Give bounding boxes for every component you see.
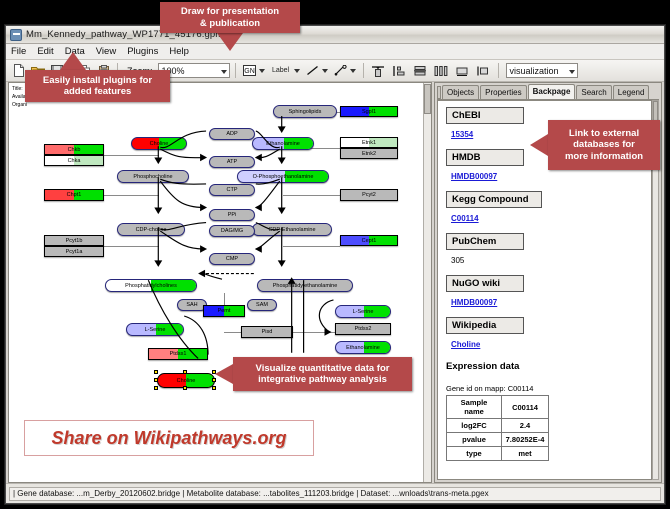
node-label: Pcyt1a	[66, 249, 83, 255]
table-cell-value: 7.80252E-4	[502, 433, 549, 447]
node-label: L-Serine	[353, 309, 374, 315]
gene-node[interactable]: Etnk2	[340, 148, 398, 159]
connector-pcyt1	[104, 246, 159, 247]
metabolite-node[interactable]: L-Serine	[335, 305, 391, 318]
metabolite-node[interactable]: SAM	[247, 299, 277, 311]
align-left-icon[interactable]	[390, 62, 409, 79]
connector-pcyt2	[283, 195, 340, 196]
title-bar: Mm_Kennedy_pathway_WP1771_45176.gpml	[6, 26, 664, 44]
gene-id-line: Gene id on mapp: C00114	[446, 384, 643, 393]
side-panel-tabstrip: Objects Properties Backpage Search Legen…	[437, 85, 659, 100]
table-cell-key: type	[447, 447, 502, 461]
gene-node[interactable]: Pcyt1a	[44, 246, 104, 257]
selection-handle-sw[interactable]	[154, 386, 158, 390]
metabolite-node[interactable]: DAG/MG	[209, 225, 255, 237]
node-label: Ptdss1	[170, 351, 187, 357]
table-row: pvalue 7.80252E-4	[447, 433, 549, 447]
order-icon[interactable]	[474, 62, 493, 79]
metabolite-node[interactable]: CTP	[209, 184, 255, 196]
pathvisio-icon	[10, 29, 22, 41]
datanode-split-button[interactable]: GN	[241, 62, 267, 79]
db-link-hmdb[interactable]: HMDB00097	[451, 172, 497, 181]
metabolite-node[interactable]: Choline	[131, 137, 187, 150]
node-label: Ethanolamine	[346, 345, 380, 351]
metabolite-node[interactable]: ADP	[209, 128, 255, 140]
metabolite-node[interactable]: CMP	[209, 253, 255, 265]
metabolite-node[interactable]: CDP-Ethanolamine	[252, 223, 332, 236]
selection-handle-w[interactable]	[154, 378, 158, 382]
node-label: Phosphatidylcholines	[125, 283, 177, 289]
db-value-pubchem: 305	[451, 256, 464, 265]
menu-item-view[interactable]: View	[95, 46, 117, 57]
callout-links-text: Link to external databases for more info…	[565, 128, 643, 162]
gene-node[interactable]: Chpt1	[44, 189, 104, 201]
table-row: log2FC 2.4	[447, 419, 549, 433]
node-label: Cept1	[362, 238, 377, 244]
db-header-nugo: NuGO wiki	[446, 275, 524, 292]
node-label: Etnk2	[362, 151, 376, 157]
connector-chpt1	[104, 195, 159, 196]
selection-handle-n[interactable]	[183, 370, 187, 374]
receptor-split-button[interactable]	[332, 62, 358, 79]
node-label: DAG/MG	[221, 228, 243, 234]
toolbar-separator	[235, 63, 236, 78]
metabolite-node[interactable]: Phosphatidylcholines	[105, 279, 197, 292]
metabolite-node[interactable]: Sphingolipids	[273, 105, 337, 118]
expression-data-title: Expression data	[446, 361, 643, 372]
connector-cept1	[283, 246, 340, 247]
node-label: Etnk1	[362, 140, 376, 146]
menu-bar: File Edit Data View Plugins Help	[6, 44, 664, 60]
callout-visualize-text: Visualize quantitative data for integrat…	[256, 363, 390, 385]
callout-visualize: Visualize quantitative data for integrat…	[233, 357, 412, 391]
status-text: | Gene database: ...m_Derby_20120602.bri…	[9, 487, 661, 501]
screenshot-root: Mm_Kennedy_pathway_WP1771_45176.gpml Fil…	[0, 0, 670, 509]
node-label: Chpt1	[67, 192, 82, 198]
gene-node[interactable]: Etnk1	[340, 137, 398, 148]
callout-links: Link to external databases for more info…	[548, 120, 660, 170]
svg-text:GN: GN	[244, 68, 255, 75]
tab-properties[interactable]: Properties	[480, 85, 526, 99]
table-cell-key: log2FC	[447, 419, 502, 433]
scrollbar-thumb[interactable]	[424, 84, 431, 114]
visualization-combo[interactable]: visualization	[506, 63, 578, 78]
table-cell-key: pvalue	[447, 433, 502, 447]
metabolite-node[interactable]: ATP	[209, 156, 255, 168]
chevron-down-icon[interactable]	[293, 62, 302, 79]
datanode-icon[interactable]: GN	[241, 62, 258, 79]
node-label: Phosphocholine	[133, 174, 172, 180]
node-label: O-Phosphoethanolamine	[253, 174, 314, 180]
gene-node[interactable]: Chkb	[44, 144, 104, 155]
table-cell-value: C00114	[502, 396, 549, 419]
callout-share: Share on Wikipathways.org	[24, 420, 314, 456]
line-split-button[interactable]	[304, 62, 330, 79]
node-label: Phosphatidylethanolamine	[273, 283, 338, 289]
metabolite-node[interactable]: Phosphocholine	[117, 170, 189, 183]
node-label: Pcyt1b	[66, 238, 83, 244]
menu-item-file[interactable]: File	[10, 46, 27, 57]
node-label: PPi	[228, 212, 237, 218]
connector-ptdss2	[293, 332, 335, 333]
selection-handle-s[interactable]	[183, 386, 187, 390]
tab-objects[interactable]: Objects	[442, 85, 479, 99]
db-header-wikipedia: Wikipedia	[446, 317, 524, 334]
db-link-kegg[interactable]: C00114	[451, 214, 479, 223]
db-header-chebi: ChEBI	[446, 107, 524, 124]
node-label: Choline	[177, 378, 196, 384]
db-link-chebi[interactable]: 15354	[451, 130, 473, 139]
canvas-meta-title: Title:	[12, 86, 23, 92]
chevron-down-icon	[569, 70, 575, 74]
db-link-nugo[interactable]: HMDB00097	[451, 298, 497, 307]
node-label: Ptdss2	[355, 326, 372, 332]
node-label: Pcyt2	[362, 192, 376, 198]
node-label: CDP-choline	[136, 227, 167, 233]
table-cell-key: Sample name	[447, 396, 502, 419]
menu-item-edit[interactable]: Edit	[36, 46, 54, 57]
chevron-down-icon	[221, 70, 227, 74]
node-label: SAH	[186, 302, 197, 308]
callout-draw-arrow	[217, 33, 243, 51]
metabolite-node[interactable]: L-Serine	[126, 323, 184, 336]
metabolite-node[interactable]: PPi	[209, 209, 255, 221]
callout-visualize-arrow	[215, 364, 233, 384]
label-tool[interactable]: Label	[269, 62, 293, 79]
node-label: ATP	[227, 159, 237, 165]
node-label: ADP	[226, 131, 237, 137]
chevron-down-icon[interactable]	[321, 62, 330, 79]
canvas-meta-organism: Organi	[12, 102, 27, 108]
toolbar-separator	[363, 63, 364, 78]
node-label: CMP	[226, 256, 238, 262]
tab-legend[interactable]: Legend	[613, 85, 650, 99]
stack-vertical-icon[interactable]	[411, 62, 430, 79]
label-tool-text: Label	[272, 67, 289, 74]
callout-draw: Draw for presentation & publication	[160, 2, 300, 33]
group-icon[interactable]	[453, 62, 472, 79]
node-label: Sphingolipids	[289, 109, 322, 115]
metabolite-node[interactable]: O-Phosphoethanolamine	[237, 170, 329, 183]
node-label: L-Serine	[145, 327, 166, 333]
visualization-value: visualization	[510, 66, 559, 76]
menu-item-help[interactable]: Help	[168, 46, 190, 57]
node-label: CDP-Ethanolamine	[268, 227, 315, 233]
gene-node[interactable]: Ptdss1	[148, 348, 208, 360]
gene-node[interactable]: Pisd	[241, 326, 293, 338]
node-label: Pisd	[262, 329, 273, 335]
metabolite-node[interactable]: Phosphatidylethanolamine	[257, 279, 353, 292]
db-header-hmdb: HMDB	[446, 149, 524, 166]
table-cell-value: met	[502, 447, 549, 461]
gene-node[interactable]: Chka	[44, 155, 104, 166]
callout-links-arrow	[530, 134, 548, 156]
connector-chk	[104, 155, 159, 156]
chevron-down-icon[interactable]	[258, 62, 267, 79]
canvas-vertical-scrollbar[interactable]	[423, 83, 431, 482]
menu-item-plugins[interactable]: Plugins	[126, 46, 159, 57]
callout-draw-text: Draw for presentation & publication	[181, 6, 279, 28]
selection-handle-se[interactable]	[212, 386, 216, 390]
callout-share-text: Share on Wikipathways.org	[52, 428, 287, 449]
gene-node[interactable]: Cept1	[340, 235, 398, 246]
panel-drag-handle[interactable]	[437, 86, 441, 99]
node-label: Sgpl1	[362, 109, 376, 115]
gene-node[interactable]: Ptdss2	[335, 323, 391, 335]
distribute-icon[interactable]	[432, 62, 451, 79]
tab-search[interactable]: Search	[576, 85, 611, 99]
gene-node[interactable]: Pcyt2	[340, 189, 398, 201]
node-label: Chka	[68, 158, 81, 164]
node-label: Choline	[150, 141, 169, 147]
node-label: Pemt	[218, 308, 231, 314]
metabolite-node[interactable]: Ethanolamine	[252, 137, 314, 150]
node-label: CTP	[227, 187, 238, 193]
status-bar: | Gene database: ...m_Derby_20120602.bri…	[6, 483, 664, 503]
callout-plugins-arrow	[60, 52, 86, 70]
node-label: Chkb	[68, 147, 81, 153]
toolbar-separator	[498, 63, 499, 78]
db-header-kegg: Kegg Compound	[446, 191, 542, 208]
db-header-pubchem: PubChem	[446, 233, 524, 250]
metabolite-node[interactable]: CDP-choline	[117, 223, 185, 236]
metabolite-node[interactable]: Ethanolamine	[335, 341, 391, 354]
table-row: type met	[447, 447, 549, 461]
tab-backpage[interactable]: Backpage	[528, 84, 576, 99]
line-icon[interactable]	[304, 62, 321, 79]
align-top-icon[interactable]	[369, 62, 388, 79]
table-cell-value: 2.4	[502, 419, 549, 433]
table-row: Sample name C00114	[447, 396, 549, 419]
expression-table: Sample name C00114 log2FC 2.4 pvalue 7.8…	[446, 395, 549, 461]
label-split-button[interactable]: Label	[269, 62, 302, 79]
callout-plugins: Easily install plugins for added feature…	[25, 70, 170, 102]
receptor-icon[interactable]	[332, 62, 349, 79]
gene-node[interactable]: Pcyt1b	[44, 235, 104, 246]
callout-plugins-text: Easily install plugins for added feature…	[43, 75, 152, 97]
gene-node[interactable]: Sgpl1	[340, 106, 398, 117]
node-label: Ethanolamine	[266, 141, 300, 147]
db-link-wikipedia[interactable]: Choline	[451, 340, 480, 349]
chevron-down-icon[interactable]	[349, 62, 358, 79]
node-label: SAM	[256, 302, 268, 308]
selection-handle-nw[interactable]	[154, 370, 158, 374]
gene-node[interactable]: Pemt	[203, 305, 245, 317]
canvas-meta-availability: Availa	[12, 94, 26, 100]
